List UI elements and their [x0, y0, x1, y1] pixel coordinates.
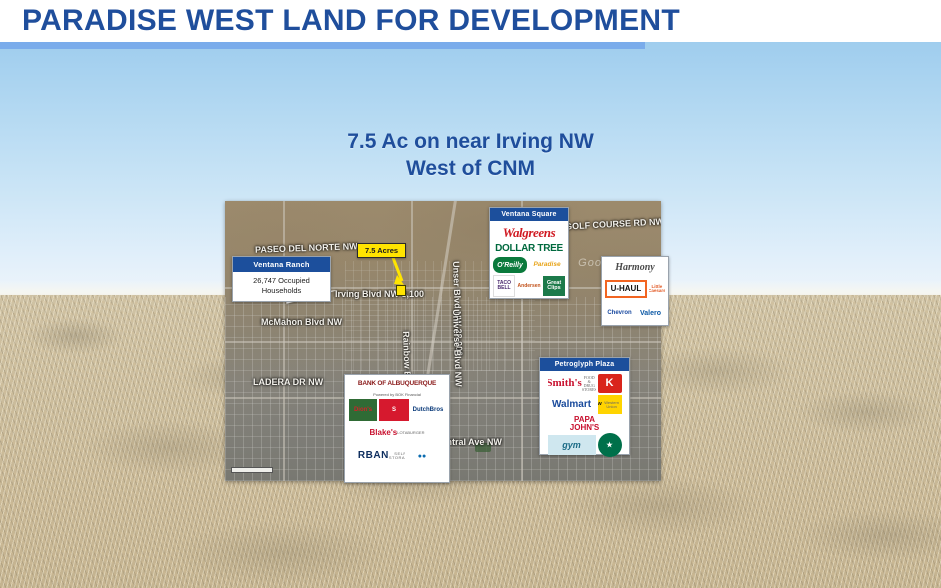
little-gym-logo: gym	[548, 435, 596, 455]
road-line	[283, 201, 285, 481]
logo-row: Walgreens	[493, 224, 565, 240]
slide-root: PARADISE WEST LAND FOR DEVELOPMENT 7.5 A…	[0, 0, 941, 588]
logo-row: TACOBELL Andersen GreatClips	[493, 275, 565, 297]
logo-row: URBANSELF STORAGE ●●	[348, 445, 446, 467]
bank-of-albuquerque-logo: BANK OF ALBUQUERQUE	[350, 378, 444, 390]
logo-row: Harmony	[605, 260, 665, 275]
dollar-tree-logo: DOLLAR TREE	[493, 242, 565, 255]
households-line-2: Households	[235, 286, 328, 296]
road-line	[225, 341, 661, 343]
header-band: PARADISE WEST LAND FOR DEVELOPMENT	[0, 0, 941, 42]
circle-k-logo: K	[598, 374, 622, 393]
logo-row: BANK OF ALBUQUERQUE	[348, 378, 446, 390]
dominos-logo: ●●	[407, 445, 437, 467]
callout-right-strip[interactable]: Harmony U-HAUL LittleCaesars Chevron Val…	[601, 256, 669, 326]
callout-body: Harmony U-HAUL LittleCaesars Chevron Val…	[602, 257, 668, 329]
callout-title: Ventana Square	[490, 208, 568, 221]
blakes-lotaburger-logo: Blake'sLOTABURGER	[361, 423, 433, 443]
starbucks-logo: ★	[598, 433, 622, 457]
bank-tagline: Powered by BOK Financial	[348, 392, 446, 397]
page-title: PARADISE WEST LAND FOR DEVELOPMENT	[22, 4, 680, 38]
logo-row: U-HAUL LittleCaesars	[605, 277, 665, 301]
logo-row: Smith'sFOOD & DRUG STORES K	[543, 374, 626, 393]
papa-johns-logo: PAPA JOHN'S	[561, 416, 609, 431]
paradise-liquors-logo: Paradise	[529, 257, 565, 273]
oreilly-logo: O'Reilly	[493, 257, 527, 273]
little-caesars-logo: LittleCaesars	[649, 277, 665, 301]
logo-row: Walmart WWestern Union	[543, 395, 626, 414]
callout-body: 26,747 Occupied Households	[233, 272, 330, 296]
smashburger-logo: S	[379, 399, 409, 421]
andersen-logo: Andersen	[517, 276, 541, 296]
logo-row: gym ★	[543, 433, 626, 457]
logo-row: Chevron Valero	[605, 303, 665, 323]
harmony-logo: Harmony	[607, 260, 663, 275]
urban-self-storage-logo: URBANSELF STORAGE	[357, 446, 405, 466]
valero-logo: Valero	[636, 303, 665, 323]
header-accent-rule	[0, 42, 645, 49]
smiths-logo: Smith'sFOOD & DRUG STORES	[548, 375, 596, 392]
uhaul-logo: U-HAUL	[605, 280, 647, 298]
map-scale-bar	[231, 467, 273, 473]
walgreens-logo: Walgreens	[493, 224, 565, 240]
logo-row: PAPA JOHN'S	[543, 416, 626, 431]
great-clips-logo: GreatClips	[543, 276, 565, 296]
dions-logo: Dion's	[349, 399, 377, 421]
acreage-flag: 7.5 Acres	[357, 243, 406, 258]
callout-ventana-square[interactable]: Ventana Square Walgreens DOLLAR TREE O'R…	[489, 207, 569, 299]
callout-ventana-ranch[interactable]: Ventana Ranch 26,747 Occupied Households	[232, 256, 331, 302]
logo-row: DOLLAR TREE	[493, 242, 565, 255]
green-space	[475, 443, 491, 452]
callout-body: Walgreens DOLLAR TREE O'Reilly Paradise …	[490, 221, 568, 303]
chevron-logo: Chevron	[605, 303, 634, 323]
subtitle-line-2: West of CNM	[0, 155, 941, 182]
households-line-1: 26,747 Occupied	[235, 276, 328, 286]
western-union-logo: WWestern Union	[598, 395, 622, 414]
subtitle-block: 7.5 Ac on near Irving NW West of CNM	[0, 128, 941, 182]
callout-title: Ventana Ranch	[233, 257, 330, 272]
dutch-bros-logo: DutchBros	[411, 399, 445, 421]
walmart-logo: Walmart	[548, 397, 596, 412]
logo-row: Blake'sLOTABURGER	[348, 423, 446, 443]
subtitle-line-1: 7.5 Ac on near Irving NW	[0, 128, 941, 155]
taco-bell-logo: TACOBELL	[493, 275, 515, 297]
callout-body: Smith'sFOOD & DRUG STORES K Walmart WWes…	[540, 371, 629, 463]
acreage-arrow-icon	[390, 255, 412, 289]
callout-body: BANK OF ALBUQUERQUE Powered by BOK Finan…	[345, 375, 449, 473]
logo-row: Dion's S DutchBros	[348, 399, 446, 421]
callout-title: Petroglyph Plaza	[540, 358, 629, 371]
callout-petroglyph-plaza[interactable]: Petroglyph Plaza Smith'sFOOD & DRUG STOR…	[539, 357, 630, 455]
callout-retail-south[interactable]: BANK OF ALBUQUERQUE Powered by BOK Finan…	[344, 374, 450, 483]
subject-site-marker	[396, 285, 406, 296]
logo-row: O'Reilly Paradise	[493, 257, 565, 273]
